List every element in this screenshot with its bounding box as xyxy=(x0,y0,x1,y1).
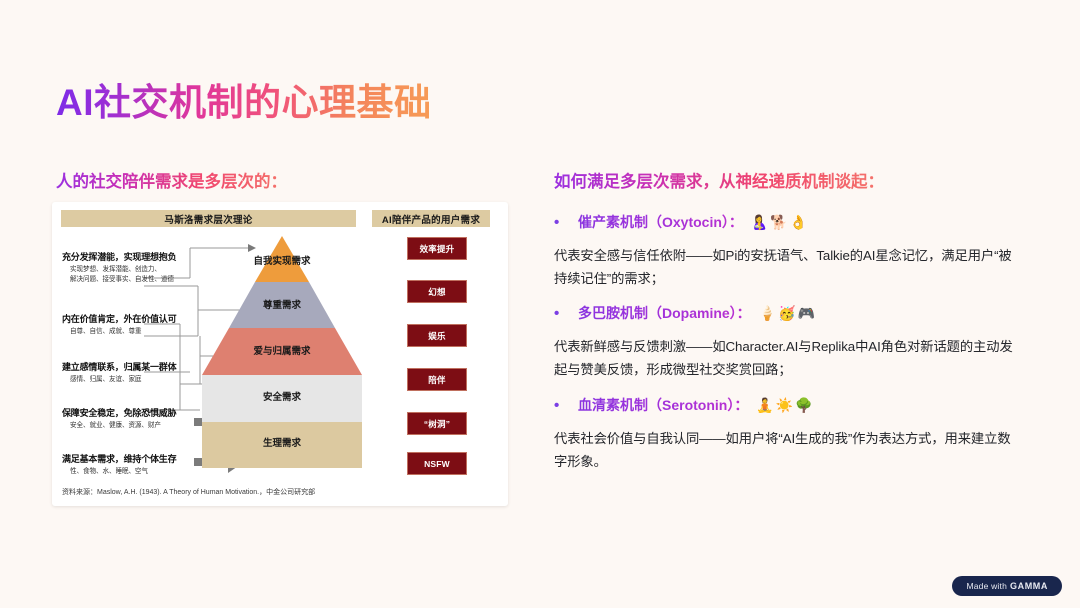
need-box-fantasy[interactable]: 幻想 xyxy=(407,280,467,303)
need-box-entertainment[interactable]: 娱乐 xyxy=(407,324,467,347)
maslow-pyramid: 自我实现需求 尊重需求 爱与归属需求 安全需求 生理需求 xyxy=(202,236,362,468)
maslow-diagram-card: 马斯洛需求层次理论 AI陪伴产品的用户需求 xyxy=(52,202,508,506)
desc-safety: 保障安全稳定，免除恐惧威胁 安全、就业、健康、资源、财产 xyxy=(62,406,204,431)
need-box-tree-hole[interactable]: “树洞” xyxy=(407,412,467,435)
badge-brand: GAMMA xyxy=(1010,581,1048,591)
bullet-dot-icon: • xyxy=(554,305,578,322)
desc-love-belonging: 建立感情联系，归属某一群体 感情、归属、友谊、家庭 xyxy=(62,360,204,385)
desc-physiological: 满足基本需求，维持个体生存 性、食物、水、睡眠、空气 xyxy=(62,452,204,477)
diagram-source-note: 资料来源：Maslow, A.H. (1943). A Theory of Hu… xyxy=(62,487,315,497)
body-oxytocin: 代表安全感与信任依附——如Pi的安抚语气、Talkie的AI星念记忆，满足用户“… xyxy=(554,245,1022,291)
pyramid-label-esteem: 尊重需求 xyxy=(202,292,362,320)
pyramid-label-self-actualization: 自我实现需求 xyxy=(202,244,362,280)
page-title: AI社交机制的心理基础 xyxy=(56,72,432,126)
emoji-group-dopamine: 🍦🥳🎮 xyxy=(759,306,817,322)
right-column-heading: 如何满足多层次需求，从神经递质机制谈起： xyxy=(554,168,884,192)
mech-label-dopamine: 多巴胺机制（Dopamine）： xyxy=(578,303,751,323)
made-with-gamma-badge[interactable]: Made with GAMMA xyxy=(952,576,1062,596)
emoji-group-serotonin: 🧘☀️🌳 xyxy=(756,398,814,414)
desc-esteem: 内在价值肯定，外在价值认可 自尊、自信、成就、尊重 xyxy=(62,312,204,337)
mech-label-serotonin: 血清素机制（Serotonin）： xyxy=(578,395,748,415)
bullet-serotonin: • 血清素机制（Serotonin）： 🧘☀️🌳 xyxy=(554,395,815,415)
need-box-companionship[interactable]: 陪伴 xyxy=(407,368,467,391)
need-box-efficiency[interactable]: 效率提升 xyxy=(407,237,467,260)
pyramid-label-love-belonging: 爱与归属需求 xyxy=(202,338,362,366)
left-column-heading: 人的社交陪伴需求是多层次的： xyxy=(56,168,287,192)
bullet-dot-icon: • xyxy=(554,397,578,414)
bullet-oxytocin: • 催产素机制（Oxytocin）： 🤱🐕👌 xyxy=(554,212,809,232)
slide: AI社交机制的心理基础 人的社交陪伴需求是多层次的： 马斯洛需求层次理论 AI陪… xyxy=(0,0,1080,608)
body-dopamine: 代表新鲜感与反馈刺激——如Character.AI与Replika中AI角色对新… xyxy=(554,336,1022,382)
pyramid-label-physiological: 生理需求 xyxy=(202,430,362,458)
desc-self-actualization: 充分发挥潜能，实现理想抱负 实现梦想、发挥潜能、创造力、 解决问题、接受事实、自… xyxy=(62,250,204,284)
emoji-group-oxytocin: 🤱🐕👌 xyxy=(751,215,809,231)
bullet-dot-icon: • xyxy=(554,214,578,231)
body-serotonin: 代表社会价值与自我认同——如用户将“AI生成的我”作为表达方式，用来建立数字形象… xyxy=(554,428,1022,474)
badge-prefix: Made with xyxy=(966,581,1007,591)
pyramid-label-safety: 安全需求 xyxy=(202,384,362,412)
mech-label-oxytocin: 催产素机制（Oxytocin）： xyxy=(578,212,743,232)
bullet-dopamine: • 多巴胺机制（Dopamine）： 🍦🥳🎮 xyxy=(554,303,817,323)
need-box-nsfw[interactable]: NSFW xyxy=(407,452,467,475)
